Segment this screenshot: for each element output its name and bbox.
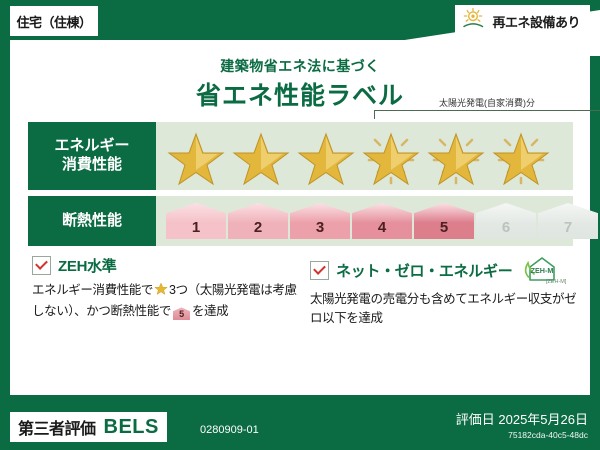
feature-zeh-body-post: を達成 <box>192 304 228 318</box>
insulation-level-7: 7 <box>538 203 598 239</box>
star-icon <box>489 126 553 186</box>
insulation-rating-area: 1234567 <box>156 196 573 246</box>
third-party-label: 第三者評価 <box>18 415 96 439</box>
bels-logo: BELS <box>104 416 159 439</box>
star-icon <box>294 126 358 186</box>
feature-zeh-body-pre: エネルギー消費性能で <box>32 283 153 297</box>
feature-zeh-header: ZEH水準 <box>32 255 302 276</box>
solar-annotation-bracket <box>374 110 600 119</box>
feature-zeh-body: エネルギー消費性能で3つ（太陽光発電は考慮しない）、かつ断熱性能で5を達成 <box>32 281 302 322</box>
certificate-number: 0280909-01 <box>200 424 259 436</box>
document-uid: 75182cda-40c5-48dc <box>456 430 588 440</box>
star-rating <box>164 122 553 190</box>
insulation-level-6: 6 <box>476 203 536 239</box>
insulation-label: 断熱性能 <box>62 212 122 231</box>
star-icon <box>424 126 488 186</box>
feature-net-zero-body: 太陽光発電の売電分も含めてエネルギー収支がゼロ以下を達成 <box>310 290 582 329</box>
insulation-level-5: 5 <box>414 203 474 239</box>
star-icon <box>164 126 228 186</box>
check-icon <box>310 261 329 280</box>
label-card: 建築物省エネ法に基づく 省エネ性能ラベル エネルギー 消費性能 太陽光発電(自家… <box>10 40 590 395</box>
check-icon <box>32 256 51 275</box>
energy-performance-label-block: エネルギー 消費性能 <box>28 122 156 190</box>
energy-label-line1: エネルギー <box>54 137 129 156</box>
energy-label-line2: 消費性能 <box>62 156 122 175</box>
title-subtitle: 建築物省エネ法に基づく <box>10 56 590 76</box>
energy-performance-label: 住宅（住棟） 再エネ設備あり 建築物省エネ法に基づく <box>0 0 600 450</box>
insulation-level-4: 4 <box>352 203 412 239</box>
solar-sun-icon <box>461 7 487 36</box>
feature-net-zero-title: ネット・ゼロ・エネルギー <box>336 260 512 281</box>
insulation-level-3: 3 <box>290 203 350 239</box>
svg-text:ZEH-M: ZEH-M <box>531 266 554 275</box>
feature-net-zero-energy: ネット・ゼロ・エネルギー ZEH-M [ZEH-M] 太陽光発電の売電分も含めて… <box>310 255 582 329</box>
solar-annotation-text: 太陽光発電(自家消費)分 <box>372 96 600 109</box>
renewable-energy-label: 再エネ設備あり <box>492 12 580 31</box>
feature-zeh: ZEH水準 エネルギー消費性能で3つ（太陽光発電は考慮しない）、かつ断熱性能で5… <box>32 255 302 322</box>
insulation-level-1: 1 <box>166 203 226 239</box>
insulation-level-scale: 1234567 <box>166 196 598 246</box>
insulation-label-block: 断熱性能 <box>28 196 156 246</box>
building-type-label: 住宅（住棟） <box>16 12 91 31</box>
evaluation-date: 評価日 2025年5月26日 <box>456 409 588 428</box>
evaluation-date-value: 2025年5月26日 <box>498 412 588 427</box>
renewable-energy-badge: 再エネ設備あり <box>455 5 590 37</box>
feature-net-zero-header: ネット・ゼロ・エネルギー ZEH-M [ZEH-M] <box>310 255 582 285</box>
zeh-m-logo-icon: ZEH-M [ZEH-M] <box>519 255 565 285</box>
insulation-badge-inline: 5 <box>173 307 190 320</box>
insulation-performance-row: 断熱性能 1234567 <box>28 196 573 246</box>
building-type-chip: 住宅（住棟） <box>10 6 98 36</box>
star-icon <box>154 282 168 302</box>
evaluation-date-label: 評価日 <box>456 412 495 427</box>
star-icon <box>359 126 423 186</box>
third-party-evaluation-chip: 第三者評価 BELS <box>10 412 167 442</box>
feature-zeh-title: ZEH水準 <box>58 255 117 276</box>
insulation-level-2: 2 <box>228 203 288 239</box>
evaluation-date-block: 評価日 2025年5月26日 75182cda-40c5-48dc <box>456 409 588 440</box>
zeh-m-logo-caption: [ZEH-M] <box>546 279 566 285</box>
energy-performance-row: エネルギー 消費性能 太陽光発電(自家消費)分 <box>28 122 573 190</box>
energy-rating-area: 太陽光発電(自家消費)分 <box>156 122 573 190</box>
star-icon <box>229 126 293 186</box>
